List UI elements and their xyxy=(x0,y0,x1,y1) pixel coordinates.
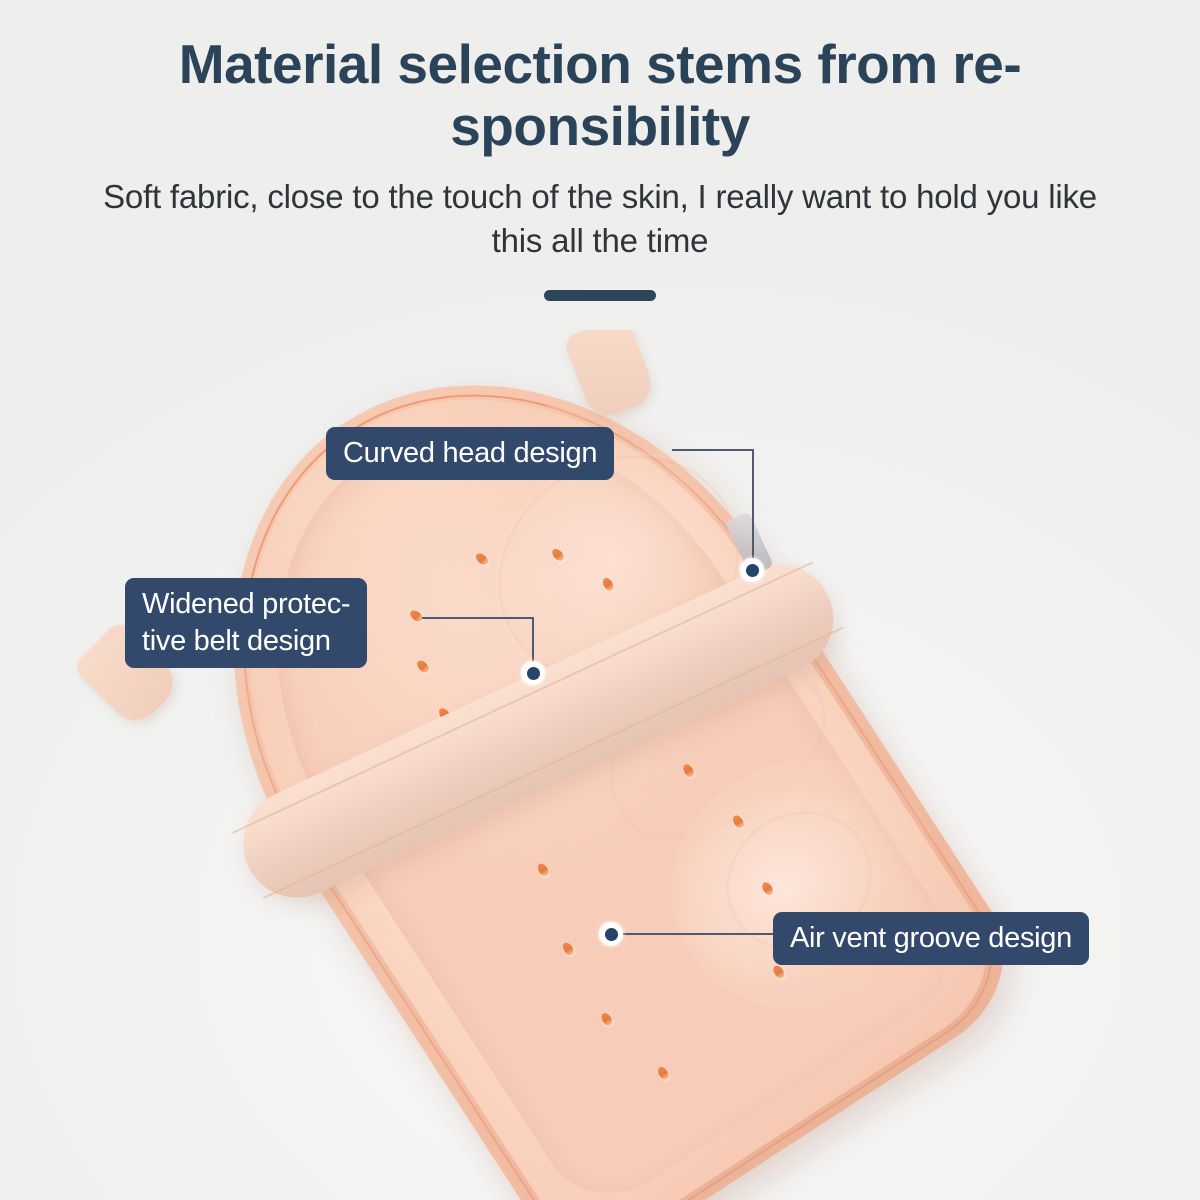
leader-line-curved-head-h xyxy=(672,449,754,451)
callout-dot-air-vent[interactable] xyxy=(599,922,623,946)
air-vent-hole xyxy=(408,608,425,624)
page-title: Material selection stems from re-sponsib… xyxy=(100,34,1100,157)
product-feature-poster: Material selection stems from re-sponsib… xyxy=(0,0,1200,1200)
callout-dot-widened-belt[interactable] xyxy=(521,661,545,685)
air-vent-hole xyxy=(656,1065,671,1082)
air-vent-hole xyxy=(415,658,431,674)
header: Material selection stems from re-sponsib… xyxy=(0,0,1200,301)
callout-label-curved-head[interactable]: Curved head design xyxy=(326,427,614,480)
product-photo: Curved head design Widened protec- tive … xyxy=(0,330,1200,1200)
air-vent-hole xyxy=(561,941,576,958)
air-vent-hole xyxy=(474,551,491,567)
leader-line-air-vent-h xyxy=(620,933,780,935)
leader-line-widened-belt-h xyxy=(422,617,534,619)
callout-dot-curved-head[interactable] xyxy=(740,558,764,582)
callout-label-air-vent[interactable]: Air vent groove design xyxy=(773,912,1089,965)
leader-line-curved-head-v xyxy=(752,449,754,571)
page-subtitle: Soft fabric, close to the touch of the s… xyxy=(85,175,1115,263)
title-divider xyxy=(544,290,656,301)
air-vent-hole xyxy=(536,862,551,879)
air-vent-hole xyxy=(599,1011,614,1028)
callout-label-widened-belt[interactable]: Widened protec- tive belt design xyxy=(125,578,367,668)
